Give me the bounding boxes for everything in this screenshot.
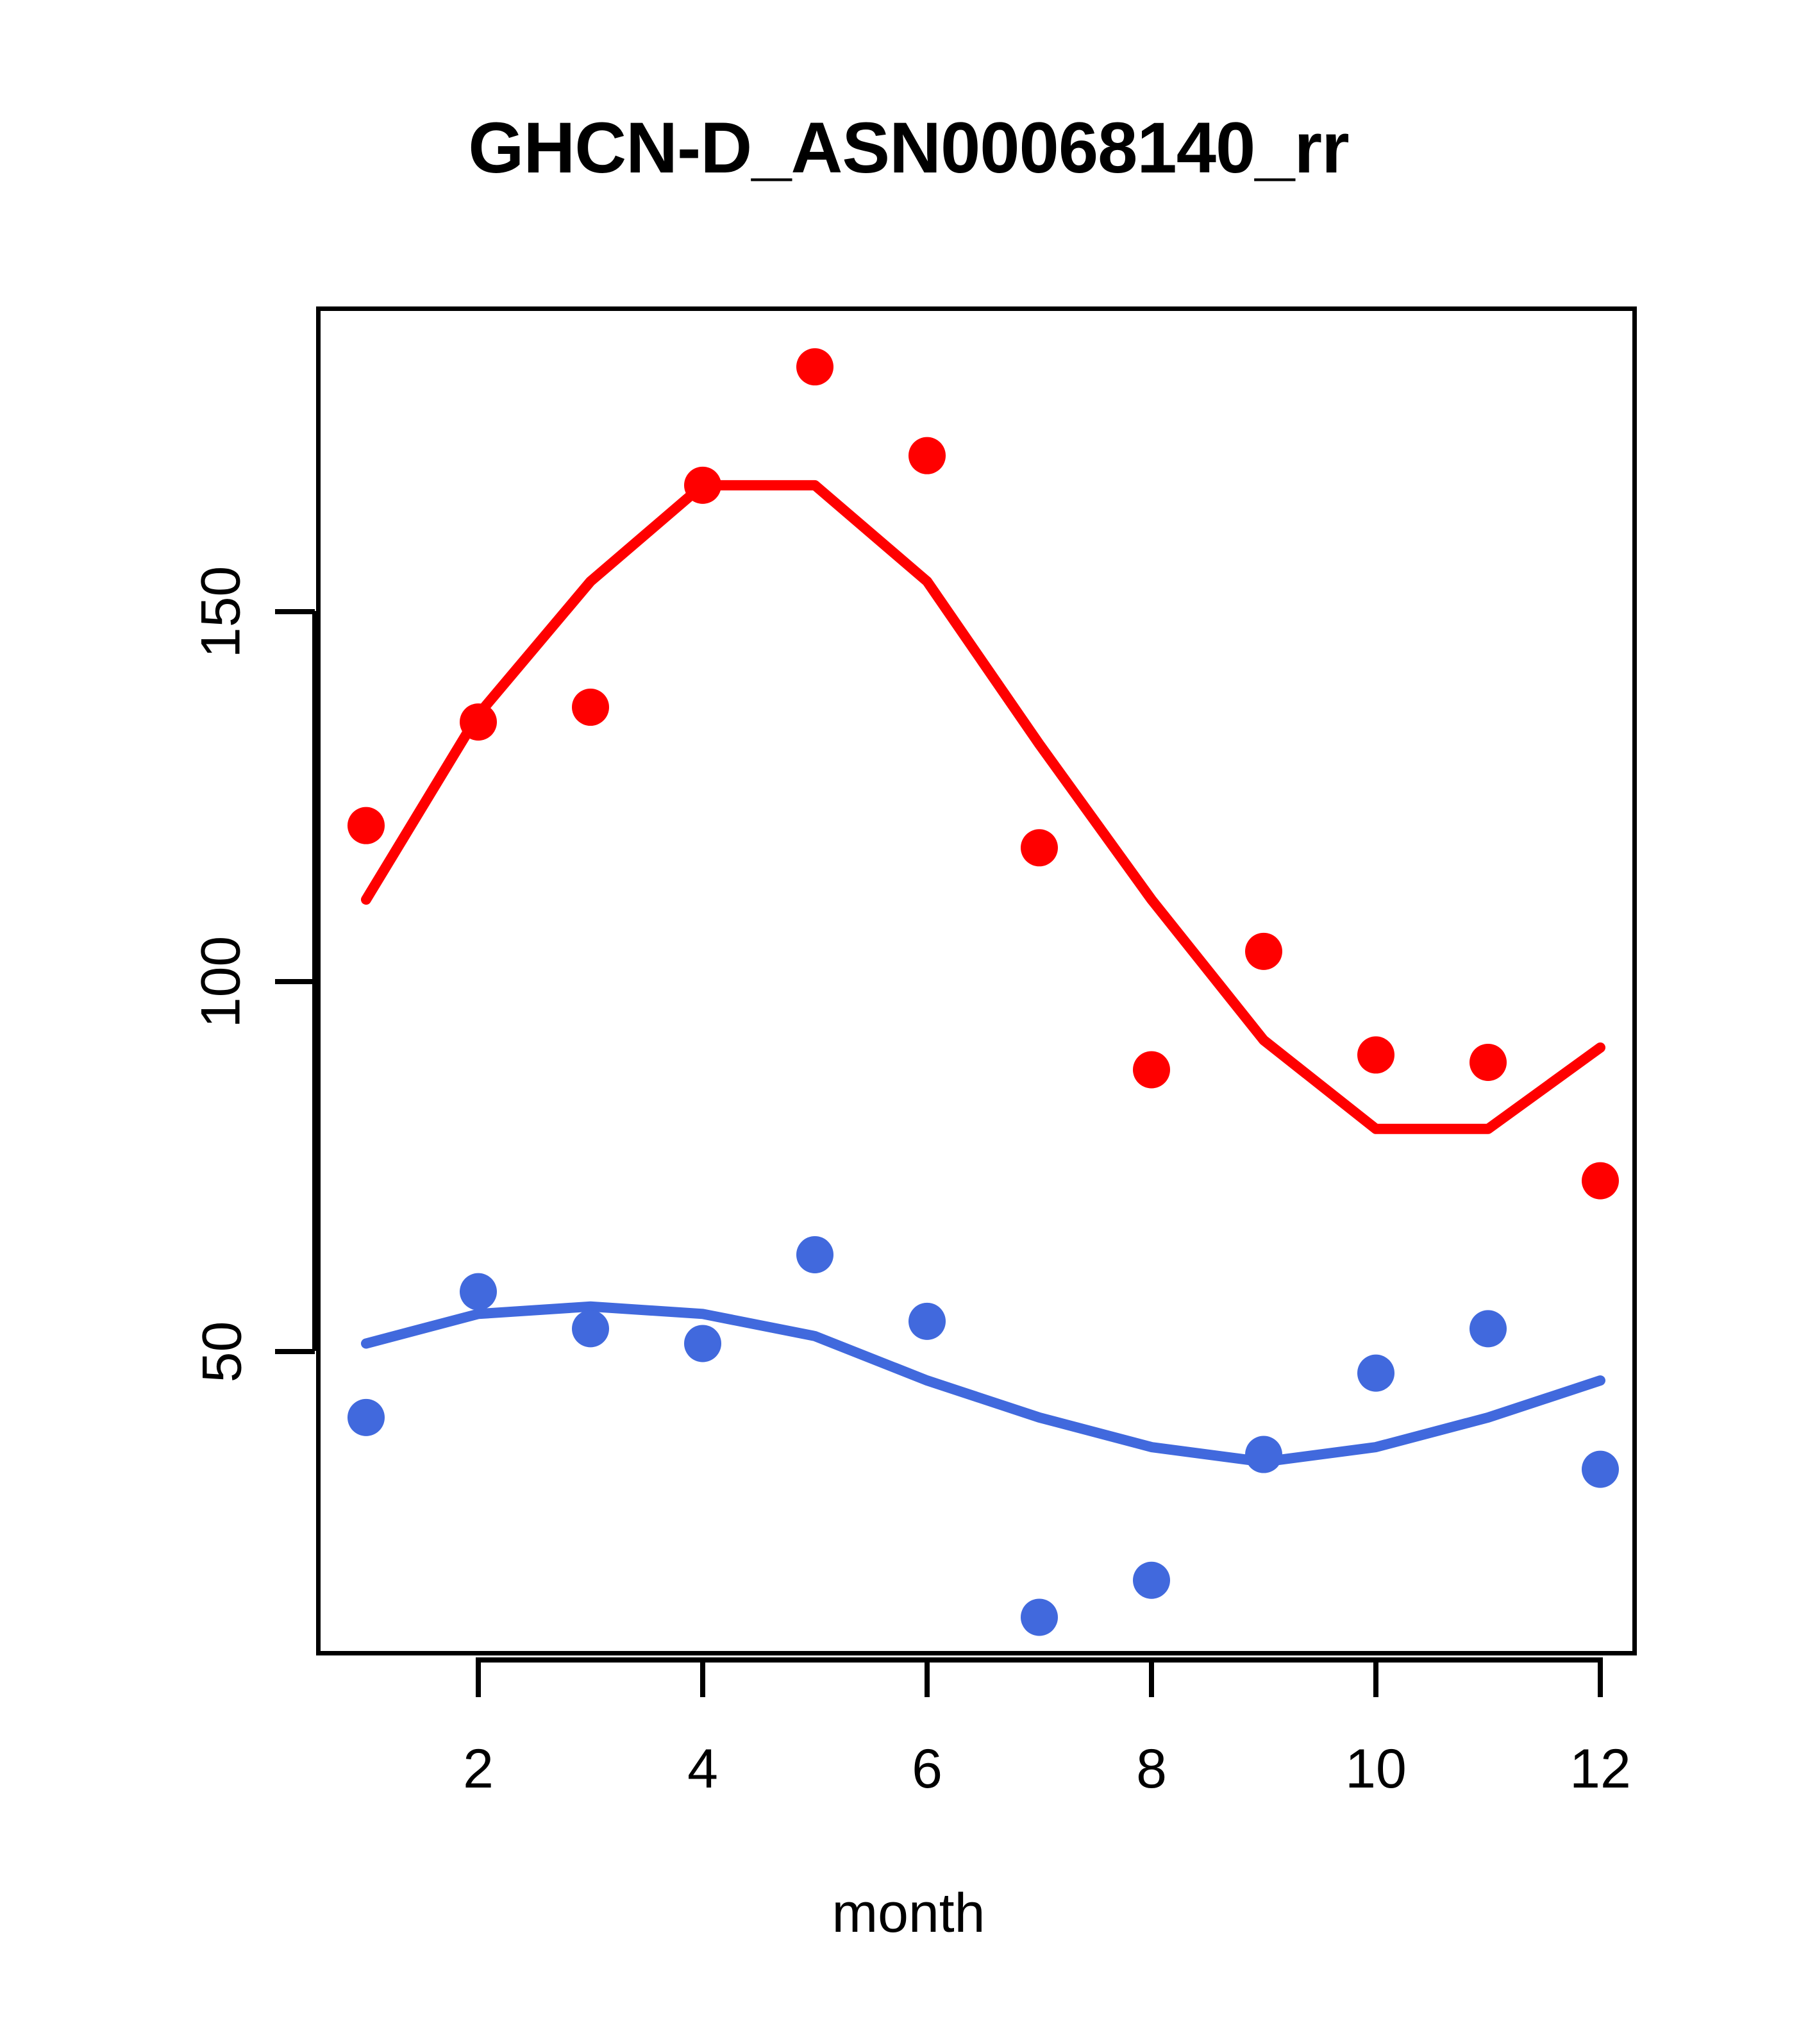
- data-point: [572, 689, 609, 726]
- x-tick-label-6: 6: [863, 1738, 991, 1801]
- data-point: [1021, 829, 1058, 866]
- data-point: [1357, 1036, 1394, 1073]
- data-point: [796, 348, 833, 385]
- x-tick-mark-12: [1598, 1657, 1603, 1697]
- x-axis-label: month: [0, 1882, 1817, 1945]
- x-tick-mark-2: [476, 1657, 481, 1697]
- data-point: [1582, 1162, 1619, 1200]
- series-line-red-line: [366, 485, 1600, 1129]
- data-point: [684, 1325, 721, 1362]
- data-point: [460, 1273, 497, 1311]
- x-tick-label-12: 12: [1536, 1738, 1664, 1801]
- y-tick-mark-100: [275, 979, 315, 984]
- x-tick-mark-10: [1373, 1657, 1378, 1697]
- y-tick-mark-50: [275, 1349, 315, 1354]
- y-tick-label-150: 150: [190, 548, 253, 676]
- data-point: [1470, 1310, 1507, 1347]
- data-point: [347, 1399, 385, 1436]
- x-tick-label-8: 8: [1087, 1738, 1216, 1801]
- data-point: [684, 467, 721, 504]
- data-point: [1582, 1451, 1619, 1488]
- data-point: [1245, 933, 1282, 970]
- chart-canvas: GHCN-D_ASN00068140_rr 150 100 50 2 4 6 8…: [0, 0, 1817, 2044]
- plot-area: [316, 306, 1637, 1655]
- data-point: [1245, 1436, 1282, 1473]
- data-point: [908, 437, 946, 474]
- data-point: [908, 1303, 946, 1340]
- series-line-blue-line: [366, 1307, 1600, 1462]
- x-tick-mark-6: [925, 1657, 930, 1697]
- plot-svg: [316, 306, 1637, 1655]
- data-point: [1021, 1598, 1058, 1636]
- data-point: [572, 1310, 609, 1347]
- data-point: [796, 1236, 833, 1273]
- x-tick-label-4: 4: [639, 1738, 767, 1801]
- data-point: [1470, 1044, 1507, 1081]
- x-tick-mark-4: [700, 1657, 705, 1697]
- data-point: [1357, 1355, 1394, 1392]
- data-point: [1133, 1562, 1170, 1599]
- x-tick-label-10: 10: [1312, 1738, 1440, 1801]
- data-point: [460, 703, 497, 741]
- x-tick-label-2: 2: [414, 1738, 542, 1801]
- x-axis-line: [478, 1657, 1600, 1663]
- page-title: GHCN-D_ASN00068140_rr: [0, 112, 1817, 184]
- y-tick-mark-150: [275, 609, 315, 614]
- data-point: [347, 807, 385, 844]
- data-point: [1133, 1051, 1170, 1088]
- y-tick-label-100: 100: [190, 918, 253, 1046]
- y-tick-label-50: 50: [191, 1304, 255, 1400]
- x-tick-mark-8: [1149, 1657, 1154, 1697]
